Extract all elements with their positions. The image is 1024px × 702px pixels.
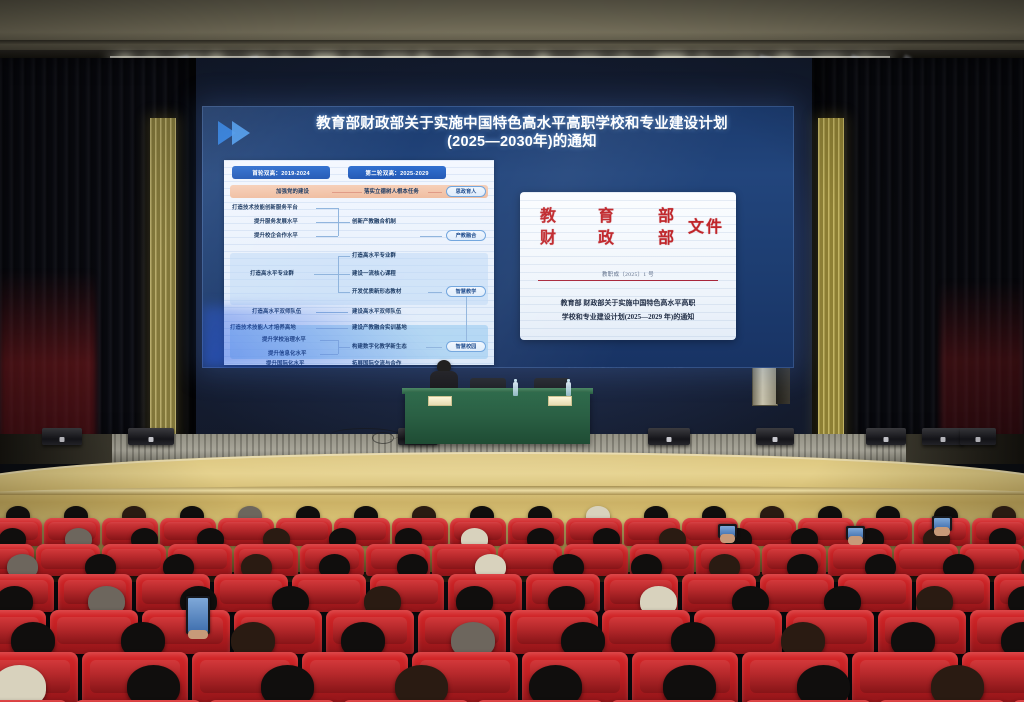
doc-char-4: 政 <box>598 230 614 247</box>
document-title-line2: 学校和专业建设计划(2025—2029 年)的通知 <box>534 310 722 324</box>
diagram-link-0 <box>332 192 362 193</box>
document-reflection-text: 学校和专业建设计划(2025—2029 年)的通知 <box>520 364 736 368</box>
doc-char-5: 部 <box>658 230 674 247</box>
auditorium-ceiling <box>0 0 1024 52</box>
stage-monitor <box>128 428 174 445</box>
monitor-badge <box>149 437 154 442</box>
stage-monitor <box>648 428 690 445</box>
monitor-badge <box>976 437 981 442</box>
diagram-link-2 <box>316 222 338 223</box>
gold-drape-left <box>150 118 176 440</box>
diagram-link-1 <box>316 208 338 209</box>
audience-hand <box>848 536 863 545</box>
diagram-node-right-6: 开发优质新形态教材 <box>352 288 401 296</box>
diagram-pill-3: 产教融合 <box>446 230 486 241</box>
audience-head <box>931 665 984 702</box>
monitor-badge <box>667 437 672 442</box>
curtain-red-glow-left <box>0 270 96 440</box>
stage-apron-rim <box>0 486 1024 495</box>
slide-title-line1: 教育部财政部关于实施中国特色高水平高职学校和专业建设计划 <box>316 116 728 132</box>
diagram-link-3 <box>316 236 338 237</box>
doc-char-6: 文 <box>688 219 704 236</box>
diagram-node-left-3: 提升校企合作水平 <box>254 232 298 240</box>
document-title: 教育部 财政部关于实施中国特色高水平高职 学校和专业建设计划(2025—2029… <box>534 296 722 324</box>
diagram-link-5b <box>338 274 350 275</box>
photo-scene: 教育部财政部关于实施中国特色高水平高职学校和专业建设计划 (2025—2030年… <box>0 0 1024 702</box>
diagram-node-left-1: 打造技术技能创新服务平台 <box>232 204 298 212</box>
stage-monitor <box>756 428 794 445</box>
ceiling-seam <box>0 40 1024 44</box>
diagram-node-left-5: 打造高水平专业群 <box>250 270 294 278</box>
audience-head <box>127 665 180 702</box>
curtain-red-glow-right <box>940 280 1024 440</box>
diagram-link-5 <box>314 274 338 275</box>
audience-head <box>797 665 850 702</box>
audience-hand <box>720 534 735 543</box>
doc-char-7: 件 <box>706 219 722 236</box>
band-teaching <box>230 253 488 305</box>
projector-glow <box>202 306 502 368</box>
audience-area <box>0 500 1024 702</box>
diagram-link-0b <box>428 192 442 193</box>
name-card-left <box>428 396 452 406</box>
monitor-badge <box>941 437 946 442</box>
slide-title: 教育部财政部关于实施中国特色高水平高职学校和专业建设计划 (2025—2030年… <box>252 115 792 151</box>
audience-head <box>529 665 582 702</box>
diagram-node-right-5: 建设一流核心课程 <box>352 270 396 278</box>
name-card-right <box>548 396 572 406</box>
diagram-link-2b <box>338 222 350 223</box>
diagram-node-right-2: 创新产教融合机制 <box>352 218 396 226</box>
diagram-node-left-0: 加强党的建设 <box>276 188 309 196</box>
audience-head <box>395 665 448 702</box>
phase-badge-second: 第二轮双高：2025-2029 <box>348 166 446 179</box>
doc-char-2: 部 <box>658 208 674 225</box>
diagram-link-3b <box>420 236 442 237</box>
projection-screen: 教育部财政部关于实施中国特色高水平高职学校和专业建设计划 (2025—2030年… <box>202 106 794 368</box>
stage-monitor <box>42 428 82 445</box>
diagram-node-left-2: 提升服务发展水平 <box>254 218 298 226</box>
stage-monitor <box>960 428 996 445</box>
audience-phone <box>186 596 210 634</box>
monitor-badge <box>773 437 778 442</box>
diagram-node-right-0: 落实立德树人根本任务 <box>364 188 419 196</box>
audience-head <box>663 665 716 702</box>
diagram-link-4 <box>338 256 350 257</box>
doc-char-3: 财 <box>540 230 556 247</box>
auditorium-seat <box>302 652 408 702</box>
diagram-link-6b <box>428 292 442 293</box>
auditorium-seat <box>498 544 562 576</box>
stage-monitor <box>866 428 906 445</box>
doc-char-1: 育 <box>598 208 614 225</box>
water-bottle-left <box>513 382 518 396</box>
monitor-badge <box>60 437 65 442</box>
stage-monitor <box>922 428 964 445</box>
document-header: 教 育 部 财 政 部 文 件 <box>536 208 720 260</box>
diagram-link-6 <box>338 292 350 293</box>
monitor-badge <box>884 437 889 442</box>
phase-badge-first: 首轮双高：2019-2024 <box>232 166 330 179</box>
audience-hand <box>188 630 208 639</box>
document-reflection: 学校和专业建设计划(2025—2029 年)的通知 <box>520 342 736 368</box>
diagram-pill-6: 智慧教学 <box>446 286 486 297</box>
slide-title-line2: (2025—2030年)的通知 <box>252 133 792 151</box>
document-number: 教职成〔2025〕1 号 <box>520 270 736 278</box>
water-bottle-right <box>566 382 571 396</box>
audience-head <box>261 665 314 702</box>
auditorium-seat <box>760 574 834 612</box>
slide-document-card: 教 育 部 财 政 部 文 件 教职成〔2025〕1 号 教育部 财政部关于实施… <box>520 192 736 340</box>
phone-screen <box>188 598 208 632</box>
document-title-line1: 教育部 财政部关于实施中国特色高水平高职 <box>534 296 722 310</box>
gold-drape-right <box>818 118 844 440</box>
stage-cable-2 <box>372 432 394 444</box>
audience-hand <box>934 527 950 536</box>
document-red-rule <box>538 280 718 281</box>
diagram-node-right-4: 打造高水平专业群 <box>352 252 396 260</box>
doc-char-0: 教 <box>540 208 556 225</box>
diagram-pill-0: 思政育人 <box>446 186 486 197</box>
